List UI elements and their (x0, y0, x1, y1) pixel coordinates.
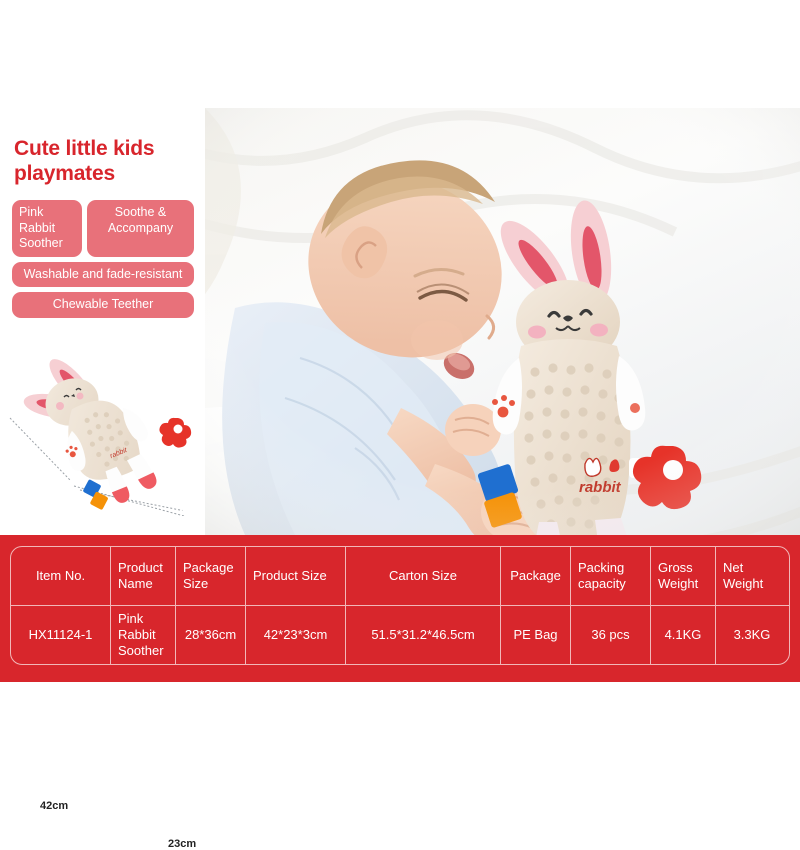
spec-cell-item-no: HX11124-1 (11, 606, 111, 664)
spec-header-product-name: Product Name (111, 547, 176, 605)
feature-badge-group: Pink Rabbit Soother Soothe & Accompany W… (12, 200, 194, 323)
spec-table-band: Item No. Product Name Package Size Produ… (0, 535, 800, 682)
page-title-line-2: playmates (14, 161, 209, 186)
feature-badge-row-1: Pink Rabbit Soother Soothe & Accompany (12, 200, 194, 257)
spec-header-package: Package (501, 547, 571, 605)
feature-badge-chewable-teether: Chewable Teether (12, 292, 194, 318)
feature-badge-row-2: Washable and fade-resistant (12, 262, 194, 288)
feature-badge-row-3: Chewable Teether (12, 292, 194, 318)
hero-photo-illustration: rabbit (205, 108, 800, 535)
spec-cell-packing-capacity: 36 pcs (571, 606, 651, 664)
page-title: Cute little kids playmates (14, 136, 209, 186)
spec-header-net-weight: Net Weight (716, 547, 788, 605)
dimension-label-width: 23cm (168, 838, 196, 850)
spec-cell-net-weight: 3.3KG (716, 606, 788, 664)
spec-header-gross-weight: Gross Weight (651, 547, 716, 605)
table-row: HX11124-1 Pink Rabbit Soother 28*36cm 42… (11, 605, 789, 664)
dimension-label-length: 42cm (40, 800, 68, 812)
feature-badge-washable-fade-resistant: Washable and fade-resistant (12, 262, 194, 288)
spec-table-header-row: Item No. Product Name Package Size Produ… (11, 547, 789, 605)
product-dimension-diagram: rabbit 42cm 23cm (8, 340, 204, 516)
spec-header-product-size: Product Size (246, 547, 346, 605)
spec-cell-carton-size: 51.5*31.2*46.5cm (346, 606, 501, 664)
spec-header-package-size: Package Size (176, 547, 246, 605)
page-title-line-1: Cute little kids (14, 136, 209, 161)
feature-badge-pink-rabbit-soother: Pink Rabbit Soother (12, 200, 82, 257)
hero-product-photo: rabbit (205, 108, 800, 535)
spec-header-item-no: Item No. (11, 547, 111, 605)
feature-badge-soothe-accompany: Soothe & Accompany (87, 200, 194, 257)
spec-cell-product-name: Pink Rabbit Soother (111, 606, 176, 664)
spec-header-carton-size: Carton Size (346, 547, 501, 605)
product-diagram-illustration: rabbit (8, 340, 204, 516)
spec-cell-product-size: 42*23*3cm (246, 606, 346, 664)
spec-cell-package: PE Bag (501, 606, 571, 664)
spec-cell-gross-weight: 4.1KG (651, 606, 716, 664)
spec-header-packing-capacity: Packing capacity (571, 547, 651, 605)
spec-cell-package-size: 28*36cm (176, 606, 246, 664)
spec-table: Item No. Product Name Package Size Produ… (10, 546, 790, 665)
